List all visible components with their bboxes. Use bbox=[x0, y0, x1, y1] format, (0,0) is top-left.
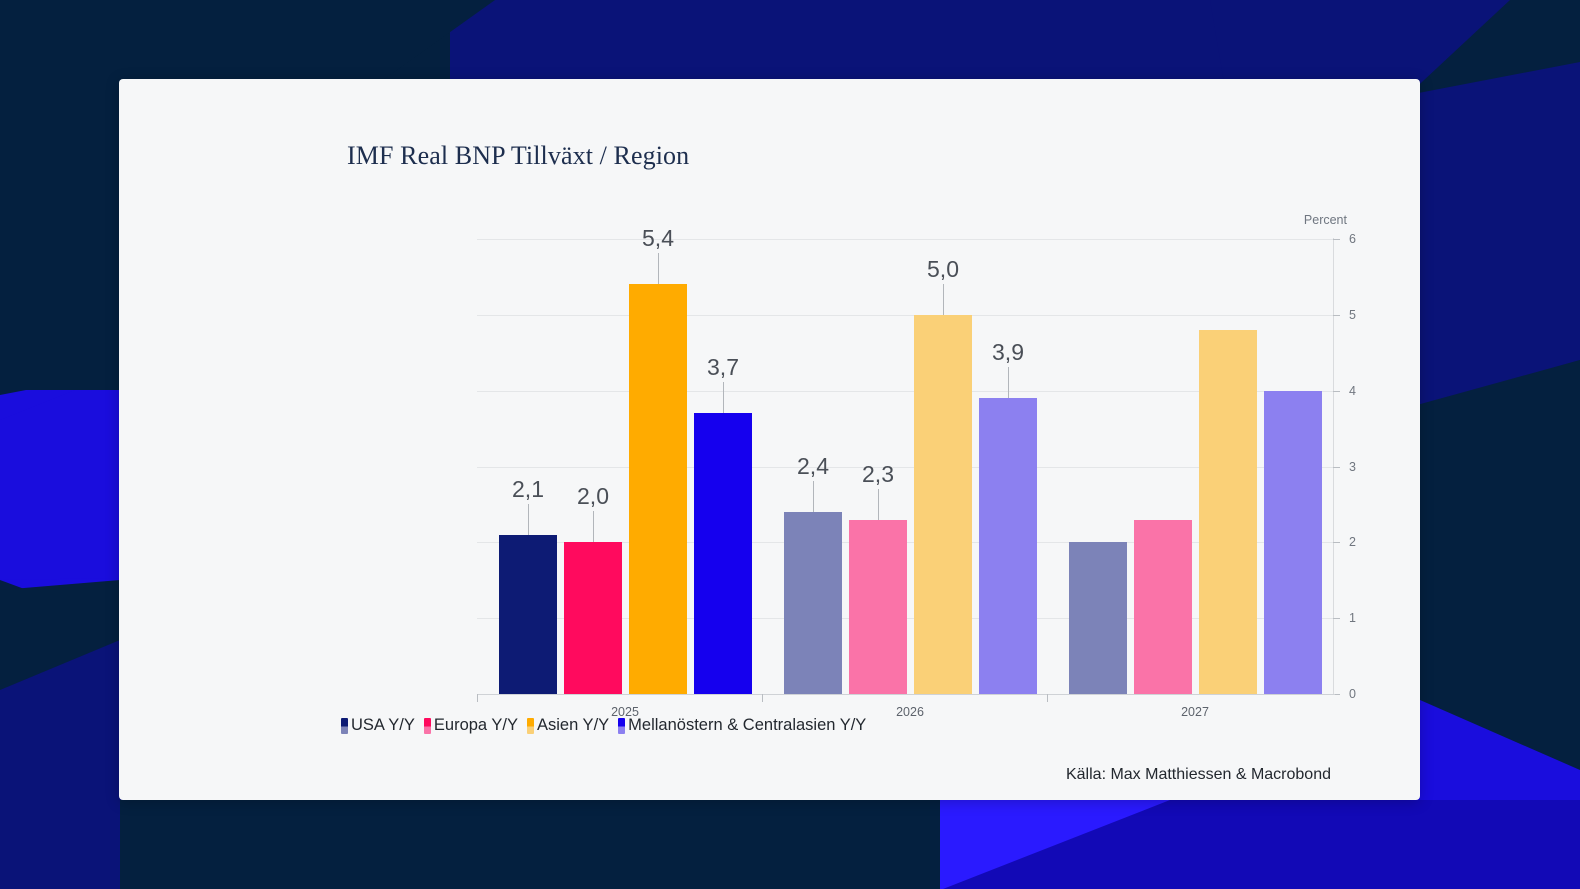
y-tick-3 bbox=[1333, 467, 1340, 468]
y-tick-label-0: 0 bbox=[1349, 687, 1356, 701]
legend-label-mena: Mellanöstern & Centralasien Y/Y bbox=[628, 716, 866, 735]
bar-2026-usa[interactable] bbox=[784, 512, 842, 694]
y-tick-4 bbox=[1333, 391, 1340, 392]
leader-2025-usa bbox=[528, 504, 529, 535]
legend-swatch-icon-mena bbox=[618, 718, 625, 734]
x-label-2026: 2026 bbox=[896, 705, 924, 719]
bar-label-2026-asien: 5,0 bbox=[927, 256, 959, 283]
x-separator-0 bbox=[477, 694, 478, 702]
x-separator-2 bbox=[1047, 694, 1048, 702]
bar-2025-asien[interactable] bbox=[629, 284, 687, 694]
bar-label-2026-usa: 2,4 bbox=[797, 453, 829, 480]
legend-item-europa[interactable]: Europa Y/Y bbox=[424, 716, 518, 735]
y-axis-unit-label: Percent bbox=[1304, 213, 1347, 227]
gridline-6 bbox=[477, 239, 1335, 240]
bar-2025-usa[interactable] bbox=[499, 535, 557, 694]
leader-2026-usa bbox=[813, 481, 814, 512]
bar-label-2025-europa: 2,0 bbox=[577, 483, 609, 510]
y-tick-label-2: 2 bbox=[1349, 535, 1356, 549]
leader-2025-mena bbox=[723, 382, 724, 413]
legend-label-usa: USA Y/Y bbox=[351, 716, 415, 735]
bar-label-2025-usa: 2,1 bbox=[512, 476, 544, 503]
band-left-navy-block bbox=[0, 245, 130, 390]
chart-container: IMF Real BNP Tillväxt / Region Percent 6… bbox=[341, 128, 1341, 800]
bar-label-2026-europa: 2,3 bbox=[862, 461, 894, 488]
leader-2025-europa bbox=[593, 511, 594, 542]
y-tick-label-1: 1 bbox=[1349, 611, 1356, 625]
legend-label-europa: Europa Y/Y bbox=[434, 716, 518, 735]
chart-title: IMF Real BNP Tillväxt / Region bbox=[347, 141, 689, 171]
plot-area: 6 5 4 3 2 1 0 2,1 2,0 5,4 3,7 bbox=[477, 239, 1335, 694]
leader-2026-mena bbox=[1008, 367, 1009, 398]
x-separator-1 bbox=[762, 694, 763, 702]
y-tick-label-3: 3 bbox=[1349, 460, 1356, 474]
gridline-5 bbox=[477, 315, 1335, 316]
legend-label-asien: Asien Y/Y bbox=[537, 716, 609, 735]
bar-label-2025-mena: 3,7 bbox=[707, 354, 739, 381]
y-tick-2 bbox=[1333, 542, 1340, 543]
leader-2026-asien bbox=[943, 284, 944, 315]
chart-source: Källa: Max Matthiessen & Macrobond bbox=[1066, 766, 1331, 784]
bar-2025-mena[interactable] bbox=[694, 413, 752, 694]
bar-2025-europa[interactable] bbox=[564, 542, 622, 694]
bar-label-2025-asien: 5,4 bbox=[642, 225, 674, 252]
legend-swatch-icon-usa bbox=[341, 718, 348, 734]
legend-swatch-icon-europa bbox=[424, 718, 431, 734]
x-axis-line bbox=[477, 694, 1335, 695]
band-bottom-navy bbox=[120, 800, 940, 889]
legend-item-asien[interactable]: Asien Y/Y bbox=[527, 716, 609, 735]
leader-2025-asien bbox=[658, 253, 659, 284]
legend-item-mena[interactable]: Mellanöstern & Centralasien Y/Y bbox=[618, 716, 866, 735]
bar-2026-mena[interactable] bbox=[979, 398, 1037, 694]
y-tick-label-5: 5 bbox=[1349, 308, 1356, 322]
legend-swatch-icon-asien bbox=[527, 718, 534, 734]
bar-2026-europa[interactable] bbox=[849, 520, 907, 694]
leader-2026-europa bbox=[878, 489, 879, 520]
bar-2026-asien[interactable] bbox=[914, 315, 972, 694]
chart-card: IMF Real BNP Tillväxt / Region Percent 6… bbox=[119, 79, 1420, 800]
bar-2027-mena[interactable] bbox=[1264, 391, 1322, 694]
legend-item-usa[interactable]: USA Y/Y bbox=[341, 716, 415, 735]
bar-2027-asien[interactable] bbox=[1199, 330, 1257, 694]
x-label-2027: 2027 bbox=[1181, 705, 1209, 719]
y-tick-label-6: 6 bbox=[1349, 232, 1356, 246]
chart-legend: USA Y/Y Europa Y/Y Asien Y/Y Mellanöster… bbox=[341, 716, 866, 735]
bar-2027-usa[interactable] bbox=[1069, 542, 1127, 694]
y-tick-5 bbox=[1333, 315, 1340, 316]
y-tick-label-4: 4 bbox=[1349, 384, 1356, 398]
bar-label-2026-mena: 3,9 bbox=[992, 339, 1024, 366]
bar-2027-europa[interactable] bbox=[1134, 520, 1192, 694]
y-tick-6 bbox=[1333, 239, 1340, 240]
y-tick-1 bbox=[1333, 618, 1340, 619]
